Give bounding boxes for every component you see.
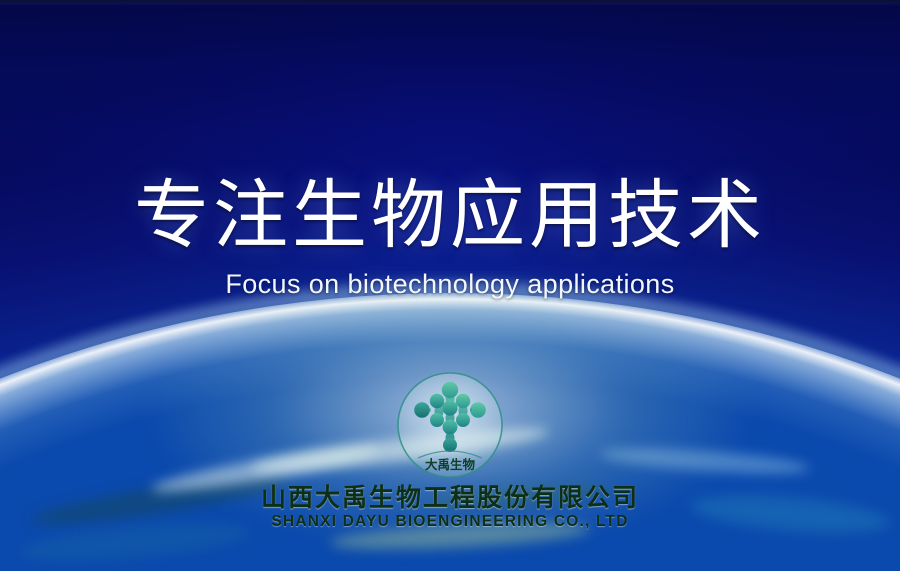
headline-block: 专注生物应用技术 Focus on biotechnology applicat… (0, 178, 900, 300)
company-name-chinese: 山西大禹生物工程股份有限公司 (0, 484, 900, 511)
logo-wordmark: 大禹生物 (425, 457, 476, 472)
company-logo: 大禹生物 (395, 370, 505, 480)
company-name-block: 山西大禹生物工程股份有限公司 SHANXI DAYU BIOENGINEERIN… (0, 484, 900, 531)
company-name-english: SHANXI DAYU BIOENGINEERING CO., LTD (0, 513, 900, 531)
headline-english: Focus on biotechnology applications (0, 269, 900, 300)
top-edge-band (0, 0, 900, 6)
promotional-poster: 专注生物应用技术 Focus on biotechnology applicat… (0, 0, 900, 571)
headline-chinese: 专注生物应用技术 (0, 178, 900, 253)
